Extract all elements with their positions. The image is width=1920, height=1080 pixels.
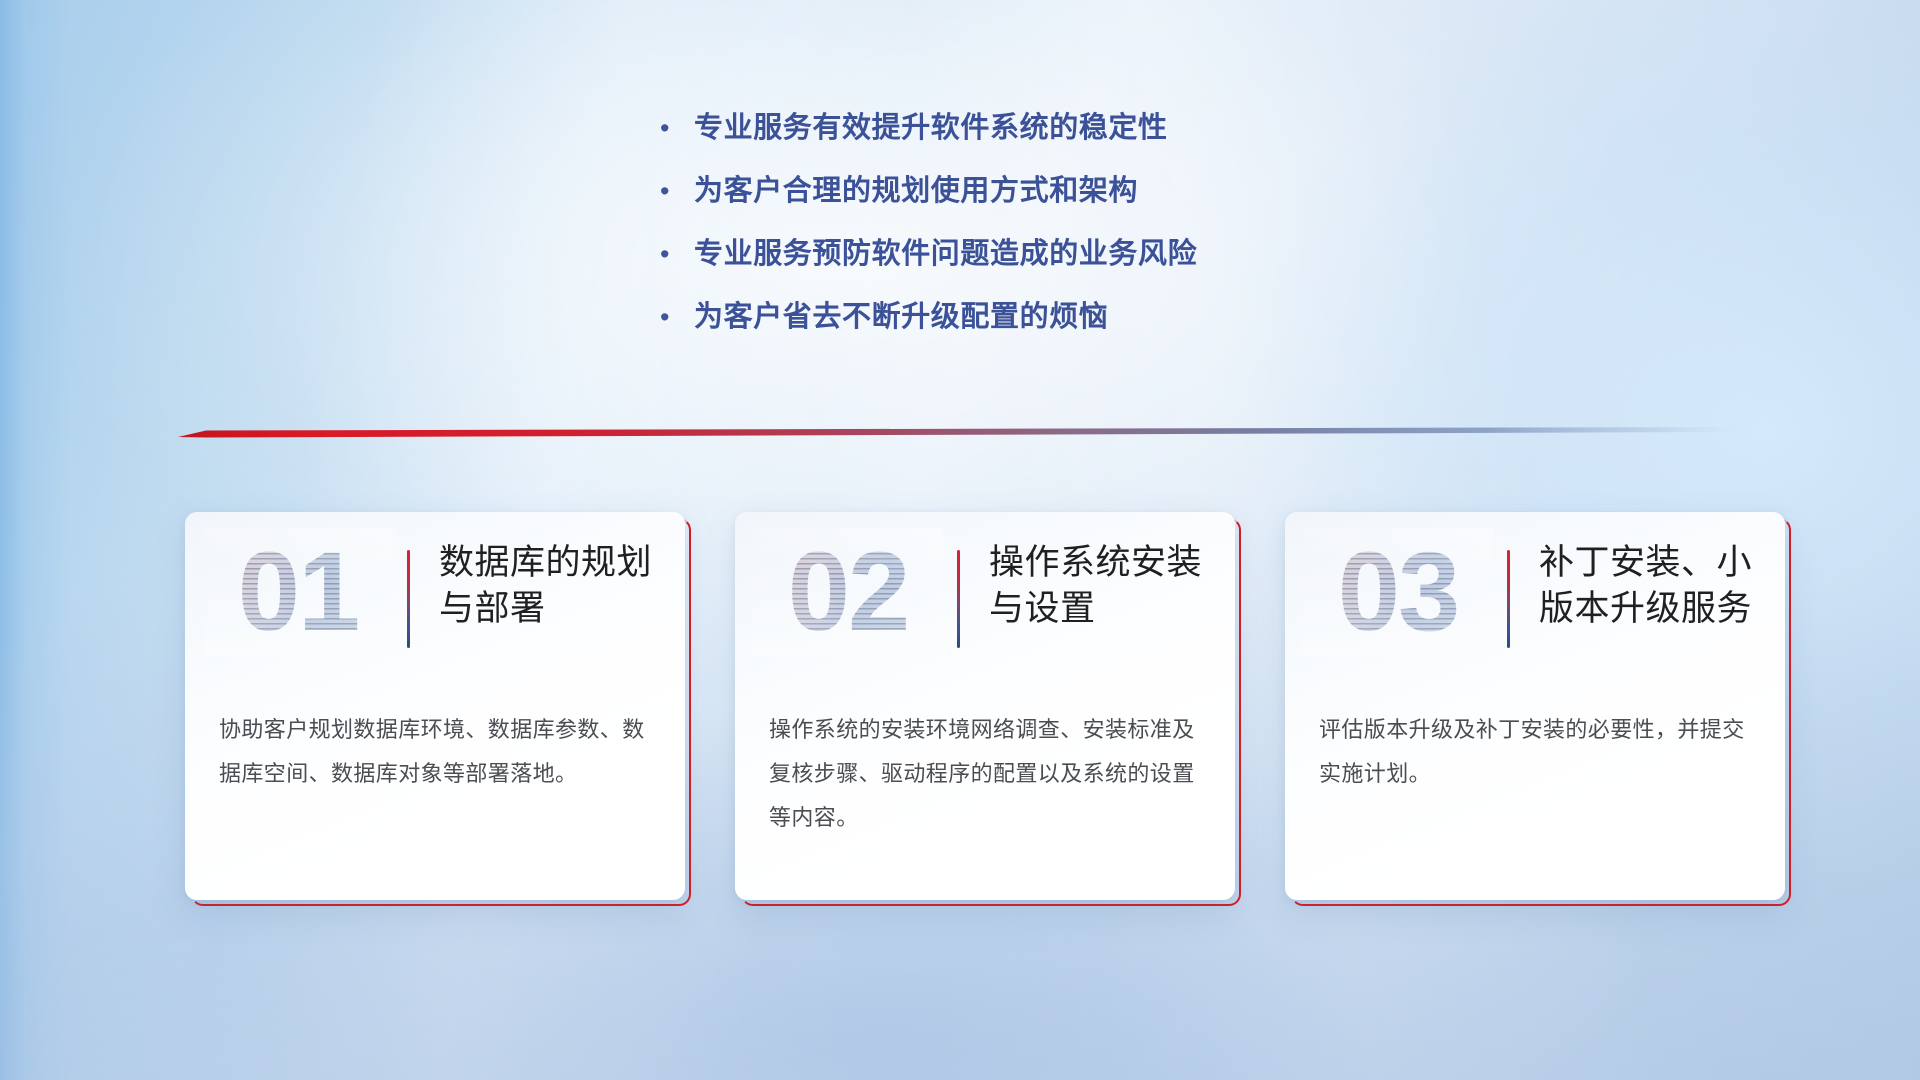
card-title: 数据库的规划与部署 [439,540,675,632]
section-divider [178,418,1738,444]
bullet-dot-icon: • [660,178,694,205]
card-index-number: 02 [753,528,943,656]
card-description: 评估版本升级及补丁安装的必要性，并提交实施计划。 [1319,708,1751,796]
card-surface: 03 补丁安装、小版本升级服务 评估版本升级及补丁安装的必要性，并提交实施计划。 [1285,512,1785,900]
bullet-item-text: 专业服务预防软件问题造成的业务风险 [694,230,1197,272]
benefits-bullet-list: • 专业服务有效提升软件系统的稳定性 • 为客户合理的规划使用方式和架构 • 专… [660,104,1420,356]
bullet-dot-icon: • [660,115,694,142]
card-title: 补丁安装、小版本升级服务 [1539,540,1775,632]
card-title-rule [957,550,960,648]
card-title: 操作系统安装与设置 [989,540,1225,632]
card-header: 02 操作系统安装与设置 [735,512,1235,688]
bullet-item-text: 为客户合理的规划使用方式和架构 [694,167,1138,209]
card-header: 03 补丁安装、小版本升级服务 [1285,512,1785,688]
card-description: 操作系统的安装环境网络调查、安装标准及复核步骤、驱动程序的配置以及系统的设置等内… [769,708,1201,840]
card-index-number: 03 [1303,528,1493,656]
bullet-dot-icon: • [660,304,694,331]
service-card[interactable]: 01 数据库的规划与部署 协助客户规划数据库环境、数据库参数、数据库空间、数据库… [185,512,685,906]
service-card[interactable]: 02 操作系统安装与设置 操作系统的安装环境网络调查、安装标准及复核步骤、驱动程… [735,512,1235,906]
slide-canvas: • 专业服务有效提升软件系统的稳定性 • 为客户合理的规划使用方式和架构 • 专… [0,0,1920,1080]
bullet-item-text: 专业服务有效提升软件系统的稳定性 [694,104,1168,146]
card-title-rule [1507,550,1510,648]
bullet-item: • 为客户合理的规划使用方式和架构 [660,167,1420,230]
bullet-item: • 专业服务有效提升软件系统的稳定性 [660,104,1420,167]
service-card-group: 01 数据库的规划与部署 协助客户规划数据库环境、数据库参数、数据库空间、数据库… [0,512,1920,932]
bullet-item: • 专业服务预防软件问题造成的业务风险 [660,230,1420,293]
card-header: 01 数据库的规划与部署 [185,512,685,688]
bullet-dot-icon: • [660,241,694,268]
tapered-rule-icon [178,418,1738,444]
service-card[interactable]: 03 补丁安装、小版本升级服务 评估版本升级及补丁安装的必要性，并提交实施计划。 [1285,512,1785,906]
card-surface: 02 操作系统安装与设置 操作系统的安装环境网络调查、安装标准及复核步骤、驱动程… [735,512,1235,900]
card-surface: 01 数据库的规划与部署 协助客户规划数据库环境、数据库参数、数据库空间、数据库… [185,512,685,900]
card-title-rule [407,550,410,648]
bullet-item: • 为客户省去不断升级配置的烦恼 [660,293,1420,356]
card-description: 协助客户规划数据库环境、数据库参数、数据库空间、数据库对象等部署落地。 [219,708,651,796]
card-index-number: 01 [203,528,393,656]
bullet-item-text: 为客户省去不断升级配置的烦恼 [694,293,1108,335]
